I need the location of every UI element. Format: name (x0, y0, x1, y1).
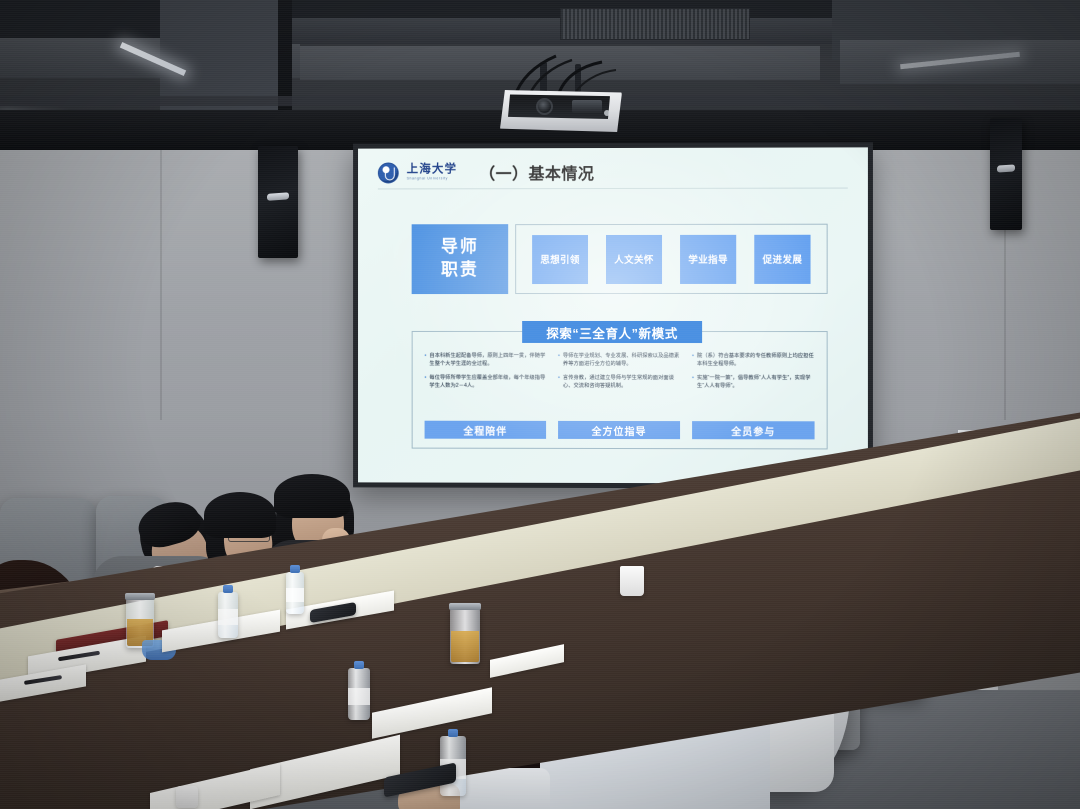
water-bottle-3 (348, 668, 370, 720)
mode-tag-1: 全方位指导 (558, 421, 680, 439)
bottle-cap-loose (176, 786, 198, 808)
bullet-2-1: • 实施“一院一策”，倡导教师“人人有学生”，实现学生“人人有导师”。 (692, 374, 814, 390)
mode-bullets-0: • 自本科新生起配备导师，原则上四年一贯，伴随学生整个大学生涯的全过程。 • 每… (425, 352, 547, 390)
bullet-text: 实施“一院一策”，倡导教师“人人有学生”，实现学生“人人有导师”。 (697, 374, 815, 390)
bullet-0-0: • 自本科新生起配备导师，原则上四年一贯，伴随学生整个大学生涯的全过程。 (425, 352, 547, 368)
bullet-dot-icon: • (692, 352, 694, 368)
ceiling-vent-center (560, 8, 750, 40)
mode-column-1: • 导师在学业规划、专业发展、科研探索以及品德素养等方面进行全方位的辅导。 • … (558, 352, 680, 439)
duty-items-container: 思想引领 人文关怀 学业指导 促进发展 (515, 224, 827, 294)
meeting-room-photo: 上海大学 Shanghai University （一）基本情况 导师 职责 思… (0, 0, 1080, 809)
duty-item-0: 思想引领 (532, 235, 588, 284)
org-name-en: Shanghai University (407, 177, 458, 181)
wall-speaker-left (258, 146, 298, 258)
bullet-2-0: • 院（系）符合基本要求的专任教师原则上均应担任本科生全程导师。 (692, 352, 814, 368)
mode-tag-2: 全员参与 (692, 421, 814, 439)
slide-title: （一）基本情况 (479, 160, 594, 184)
bullet-1-1: • 言传身教，通过建立导师与学生常规的面对面谈心、交流和咨询答疑机制。 (558, 374, 680, 390)
bullet-dot-icon: • (425, 352, 427, 368)
duty-section: 导师 职责 思想引领 人文关怀 学业指导 促进发展 (412, 224, 828, 294)
paper-cup (620, 566, 644, 596)
slide-header: 上海大学 Shanghai University （一）基本情况 (378, 156, 848, 187)
bullet-dot-icon: • (692, 374, 694, 390)
water-bottle-1 (218, 592, 238, 638)
projection-screen: 上海大学 Shanghai University （一）基本情况 导师 职责 思… (353, 142, 873, 488)
mode-content-box: • 自本科新生起配备导师，原则上四年一贯，伴随学生整个大学生涯的全过程。 • 每… (412, 331, 828, 449)
duty-item-3: 促进发展 (754, 234, 810, 283)
bullet-text: 每位导师所带学生应覆盖全部年级，每个年级指导学生人数为2－4人。 (429, 374, 546, 390)
bullet-dot-icon: • (558, 352, 560, 368)
duty-item-1: 人文关怀 (606, 234, 662, 283)
wall-speaker-right (990, 118, 1022, 230)
duty-item-2: 学业指导 (680, 234, 736, 283)
header-divider (378, 188, 848, 190)
shanghai-university-logo-icon (378, 162, 399, 183)
glass-tea-jar-2 (450, 608, 480, 664)
org-name-cn: 上海大学 (407, 164, 458, 176)
presentation-slide: 上海大学 Shanghai University （一）基本情况 导师 职责 思… (358, 147, 868, 483)
bullet-text: 导师在学业规划、专业发展、科研探索以及品德素养等方面进行全方位的辅导。 (563, 352, 680, 368)
duty-title-line2: 职责 (441, 259, 479, 282)
mode-column-2: • 院（系）符合基本要求的专任教师原则上均应担任本科生全程导师。 • 实施“一院… (692, 352, 814, 439)
bullet-text: 自本科新生起配备导师，原则上四年一贯，伴随学生整个大学生涯的全过程。 (429, 352, 546, 368)
mode-column-0: • 自本科新生起配备导师，原则上四年一贯，伴随学生整个大学生涯的全过程。 • 每… (425, 352, 547, 439)
duty-title-line1: 导师 (441, 236, 479, 259)
water-bottle-2 (286, 572, 304, 614)
bullet-text: 言传身教，通过建立导师与学生常规的面对面谈心、交流和咨询答疑机制。 (563, 374, 680, 390)
bullet-dot-icon: • (425, 374, 427, 390)
bullet-text: 院（系）符合基本要求的专任教师原则上均应担任本科生全程导师。 (697, 352, 815, 368)
bullet-dot-icon: • (558, 374, 560, 390)
bullet-0-1: • 每位导师所带学生应覆盖全部年级，每个年级指导学生人数为2－4人。 (425, 374, 547, 390)
bullet-1-0: • 导师在学业规划、专业发展、科研探索以及品德素养等方面进行全方位的辅导。 (558, 352, 680, 368)
organization-name: 上海大学 Shanghai University (407, 164, 458, 181)
mode-banner: 探索“三全育人”新模式 (522, 321, 702, 343)
mode-bullets-2: • 院（系）符合基本要求的专任教师原则上均应担任本科生全程导师。 • 实施“一院… (692, 352, 814, 390)
mode-bullets-1: • 导师在学业规划、专业发展、科研探索以及品德素养等方面进行全方位的辅导。 • … (558, 352, 680, 390)
duty-title-block: 导师 职责 (412, 224, 509, 294)
mode-tag-0: 全程陪伴 (425, 421, 547, 439)
